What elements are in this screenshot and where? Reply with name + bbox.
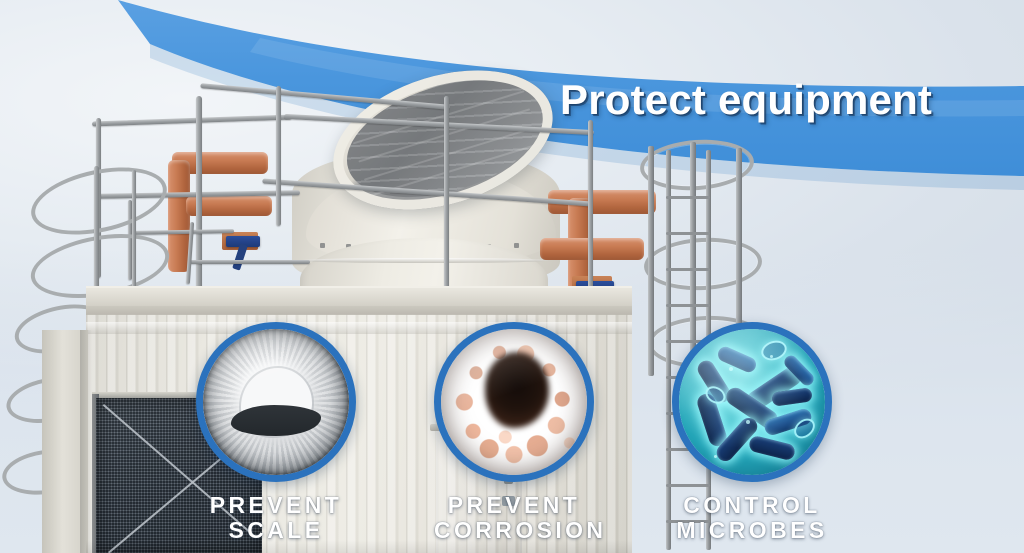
hero-banner-image: Protect equipment xyxy=(0,0,1024,553)
badge-prevent-corrosion[interactable]: PREVENT CORROSION xyxy=(434,322,594,543)
ladder-rung xyxy=(666,268,710,271)
ladder-cage-hoop-right-2 xyxy=(643,235,764,293)
bacteria-icon[interactable] xyxy=(672,322,832,482)
guardrail-post-2 xyxy=(196,96,202,296)
ladder-rung xyxy=(666,232,710,235)
caption-line-1: CONTROL xyxy=(672,493,832,518)
badge-prevent-scale[interactable]: PREVENT SCALE xyxy=(196,322,356,543)
ladder-stile-left xyxy=(94,166,99,296)
caption-line-2: SCALE xyxy=(196,518,356,543)
handrail-lower xyxy=(190,260,310,264)
badge-control-microbes[interactable]: CONTROL MICROBES xyxy=(672,322,832,543)
support-column-shadow xyxy=(80,330,92,553)
badge-caption-prevent-scale: PREVENT SCALE xyxy=(196,493,356,543)
scale-rim-shadow xyxy=(203,329,349,475)
guardrail-post-5 xyxy=(588,120,593,300)
ladder-rail-left xyxy=(666,150,671,550)
badge-caption-prevent-corrosion: PREVENT CORROSION xyxy=(434,493,594,543)
caption-line-2: MICROBES xyxy=(672,518,832,543)
ladder-rung xyxy=(666,196,710,199)
caption-line-2: CORROSION xyxy=(434,518,594,543)
badge-caption-control-microbes: CONTROL MICROBES xyxy=(672,493,832,543)
ladder-rung xyxy=(666,304,710,307)
corrosion-artwork xyxy=(441,329,587,475)
caption-line-1: PREVENT xyxy=(434,493,594,518)
corrosion-vignette xyxy=(441,329,587,475)
microbe-glow xyxy=(679,329,825,475)
copper-pipe-riser-left xyxy=(168,160,190,272)
guardrail-top-left xyxy=(92,115,292,127)
scale-deposit-icon[interactable] xyxy=(196,322,356,482)
ladder-stile-left-2 xyxy=(132,170,136,290)
guardrail-post-4 xyxy=(444,96,449,296)
caption-line-1: PREVENT xyxy=(196,493,356,518)
casing-lip xyxy=(86,306,632,315)
fan-stack-rib xyxy=(300,258,548,263)
ladder-cage-stile-1 xyxy=(648,146,654,376)
scale-deposit-artwork xyxy=(203,329,349,475)
corroded-pipe-icon[interactable] xyxy=(434,322,594,482)
microbe-artwork xyxy=(679,329,825,475)
guardrail-post-3 xyxy=(276,86,281,226)
